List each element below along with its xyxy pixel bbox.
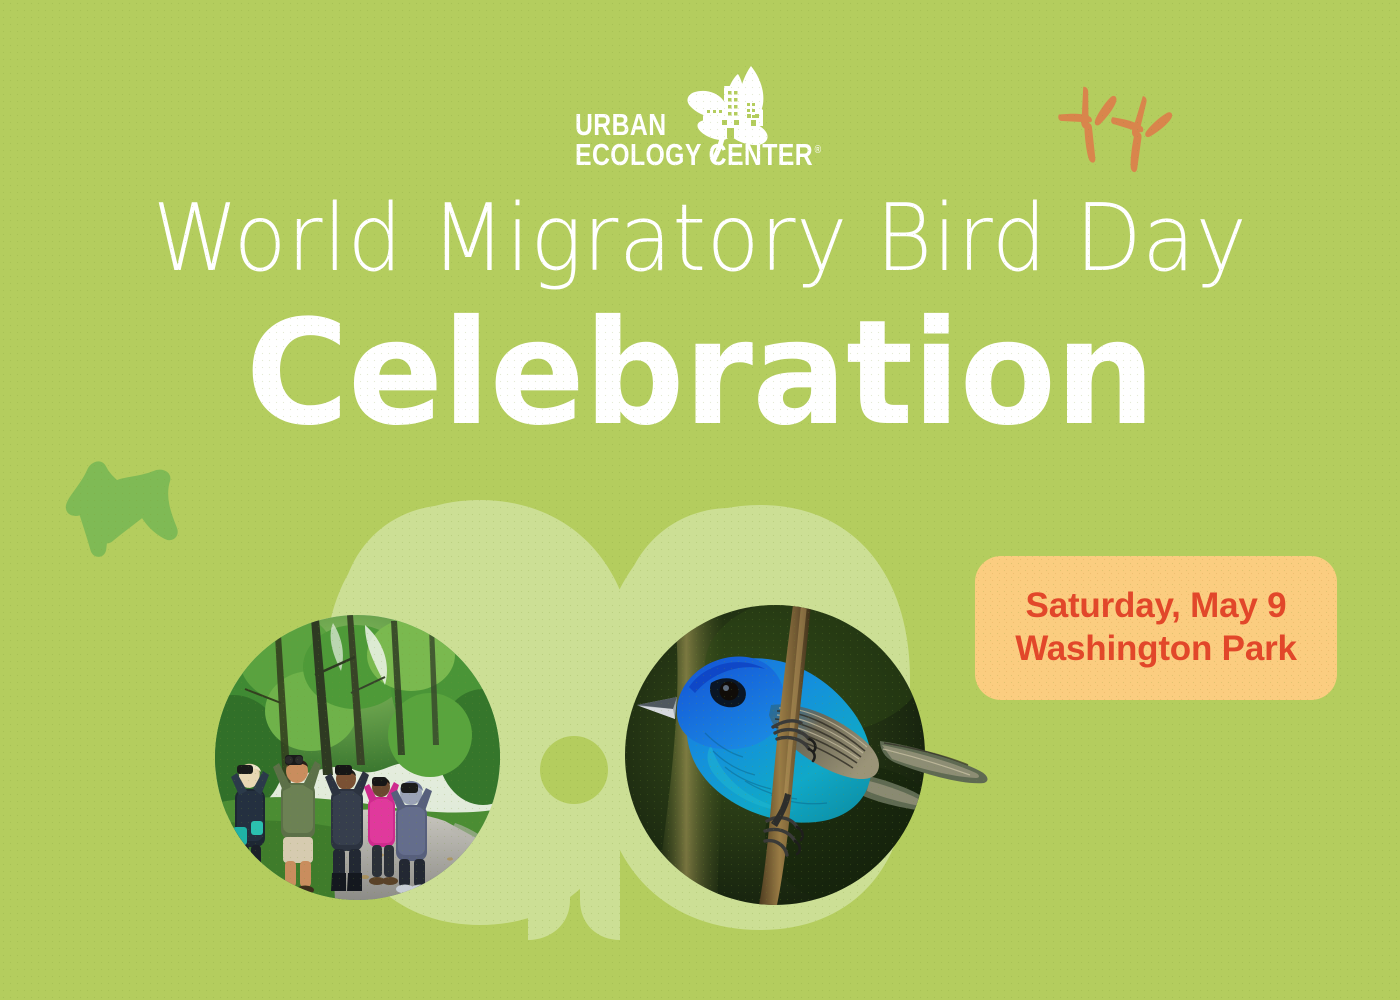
registered-mark: ® xyxy=(815,144,822,156)
logo-line-urban: URBAN xyxy=(575,110,775,140)
event-details-badge: Saturday, May 9 Washington Park xyxy=(975,556,1337,700)
event-poster: URBAN ECOLOGY CENTER® World Migratory Bi… xyxy=(0,0,1400,1000)
title-line-2: Celebration xyxy=(21,301,1379,446)
page-title: World Migratory Bird Day Celebration xyxy=(0,192,1400,446)
webbed-duck-footprints-icon xyxy=(48,448,248,563)
event-location: Washington Park xyxy=(1015,628,1297,671)
title-line-1: World Migratory Bird Day xyxy=(49,192,1351,285)
birders-group-photo xyxy=(215,615,500,900)
event-date: Saturday, May 9 xyxy=(1026,585,1287,628)
indigo-bunting-photo xyxy=(625,605,925,905)
logo-line-ecology-center: ECOLOGY CENTER xyxy=(575,137,813,172)
urban-ecology-center-logo: URBAN ECOLOGY CENTER® xyxy=(0,72,1400,172)
